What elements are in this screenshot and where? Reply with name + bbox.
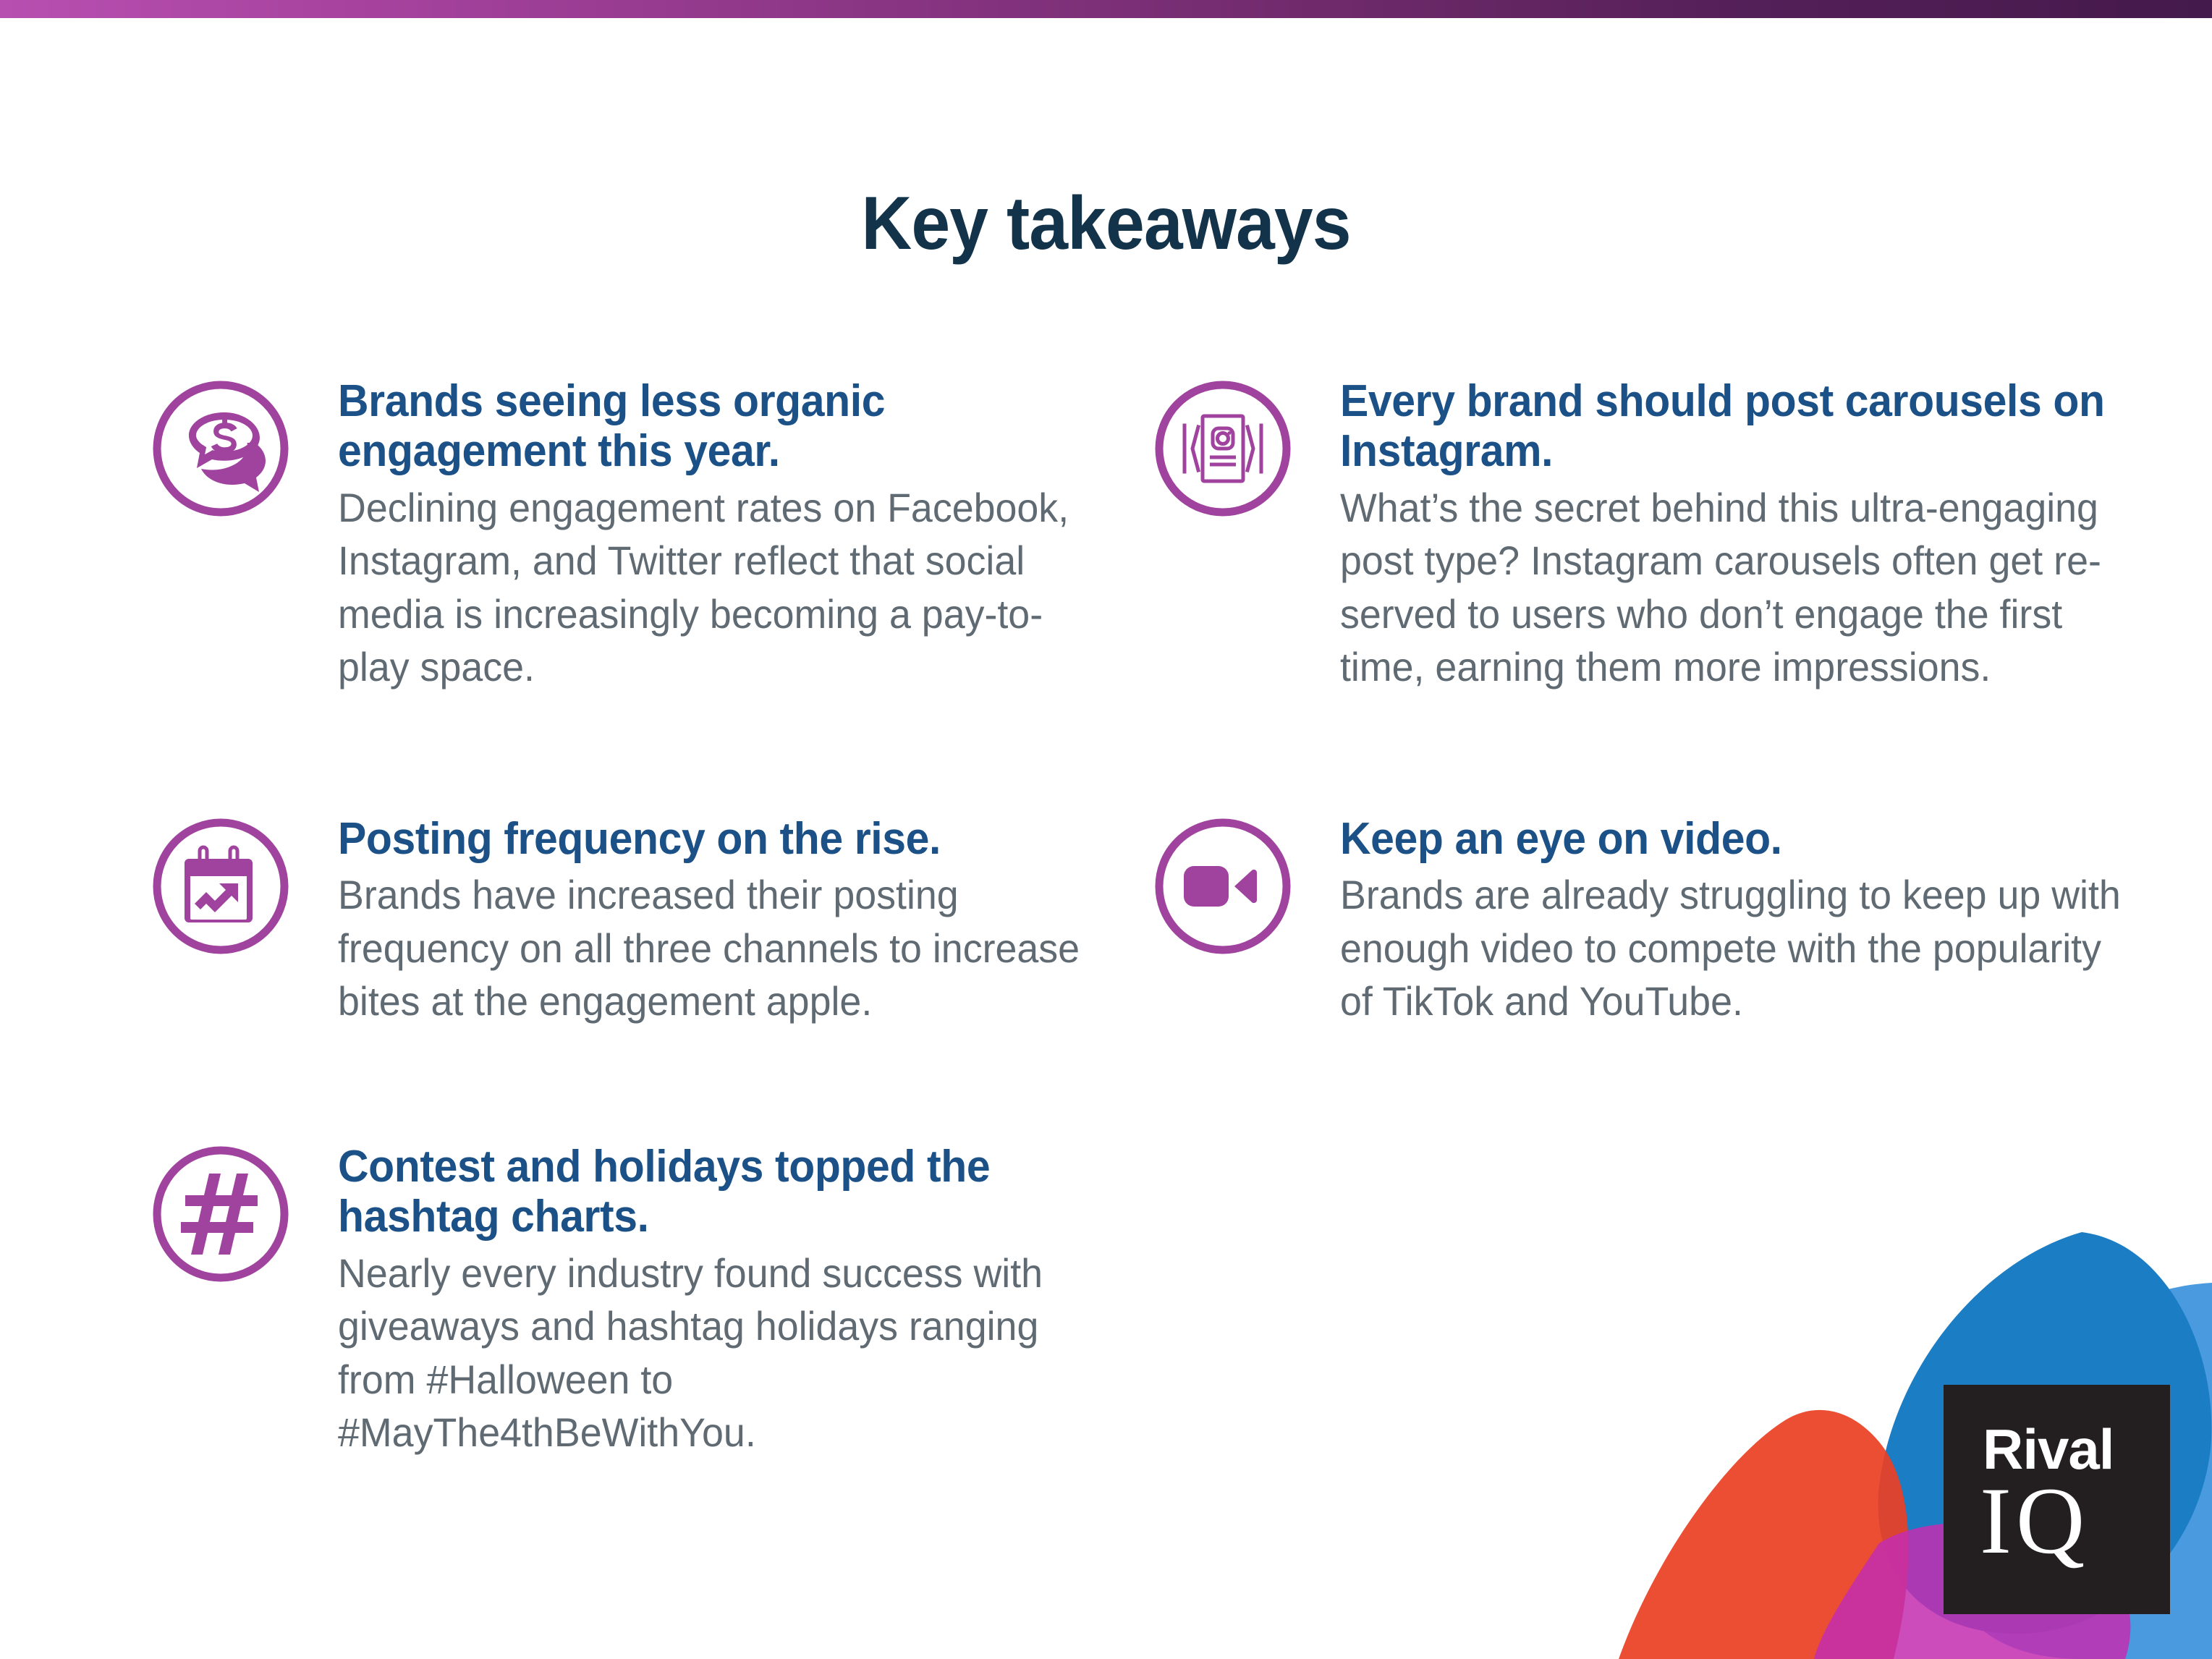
takeaway-item: Posting frequency on the rise. Brands ha…: [148, 814, 1132, 1028]
takeaway-text: Posting frequency on the rise. Brands ha…: [338, 814, 1132, 1028]
takeaway-text: Brands seeing less organic engagement th…: [338, 376, 1132, 693]
takeaway-text: Contest and holidays topped the hashtag …: [338, 1142, 1132, 1459]
takeaway-heading: Brands seeing less organic engagement th…: [338, 376, 1093, 477]
takeaway-heading: Posting frequency on the rise.: [338, 814, 1093, 864]
takeaway-item: Keep an eye on video. Brands are already…: [1151, 814, 2156, 1028]
video-camera-icon: [1151, 814, 1295, 959]
rival-iq-logo: Rival IQ: [1944, 1385, 2170, 1614]
takeaway-text: Keep an eye on video. Brands are already…: [1340, 814, 2156, 1028]
takeaway-body: Declining engagement rates on Facebook, …: [338, 481, 1101, 693]
blob-red: [1619, 1410, 1908, 1659]
takeaway-heading: Keep an eye on video.: [1340, 814, 2116, 864]
page-title: Key takeaways: [77, 184, 2135, 263]
calendar-trend-up-icon: [148, 814, 293, 959]
takeaway-body: What’s the secret behind this ultra-enga…: [1340, 481, 2124, 693]
takeaway-body: Brands are already struggling to keep up…: [1340, 868, 2124, 1027]
instagram-carousel-icon: [1151, 376, 1295, 521]
slide-root: Key takeaways Brands seeing less organic…: [0, 0, 2212, 1659]
takeaway-body: Nearly every industry found success with…: [338, 1247, 1101, 1459]
takeaway-heading: Every brand should post carousels on Ins…: [1340, 376, 2116, 477]
top-gradient-bar: [0, 0, 2212, 18]
hashtag-icon: [148, 1142, 293, 1286]
takeaway-text: Every brand should post carousels on Ins…: [1340, 376, 2156, 693]
takeaway-item: Contest and holidays topped the hashtag …: [148, 1142, 1132, 1459]
takeaway-heading: Contest and holidays topped the hashtag …: [338, 1142, 1093, 1242]
dollar-speech-bubbles-icon: [148, 376, 293, 521]
takeaway-item: Every brand should post carousels on Ins…: [1151, 376, 2156, 693]
logo-iq-text: IQ: [1980, 1473, 2089, 1569]
takeaway-item: Brands seeing less organic engagement th…: [148, 376, 1132, 693]
takeaway-body: Brands have increased their posting freq…: [338, 868, 1101, 1027]
